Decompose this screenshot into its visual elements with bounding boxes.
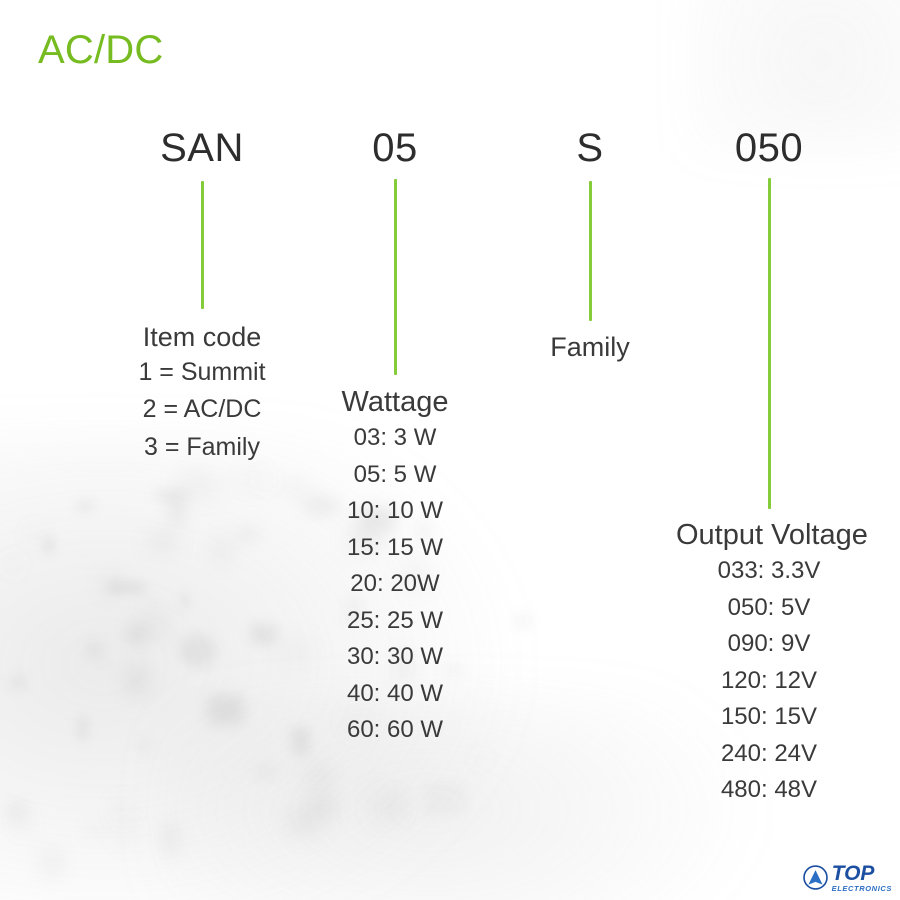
watermark-blob [309, 799, 339, 814]
caption-list-item-code: 1 = Summit 2 = AC/DC 3 = Family [92, 354, 312, 467]
list-item: 033: 3.3V [676, 553, 862, 589]
watermark-blob [7, 557, 19, 572]
list-item: 15: 15 W [300, 530, 490, 566]
segment-code-05: 05 [300, 128, 490, 168]
list-item: 050: 5V [676, 590, 862, 626]
watermark-blob [207, 695, 243, 725]
watermark-blob [368, 793, 405, 824]
caption-heading-wattage: Wattage [300, 385, 490, 420]
page-title: AC/DC [38, 28, 163, 72]
list-item: 1 = Summit [92, 354, 312, 392]
watermark-blob [216, 536, 230, 564]
list-item: 20: 20W [300, 566, 490, 602]
watermark-blob [170, 498, 184, 525]
list-item: 2 = AC/DC [92, 391, 312, 429]
watermark-blob [148, 534, 178, 549]
list-item: 25: 25 W [300, 603, 490, 639]
watermark-blob [31, 530, 40, 542]
watermark-blob [317, 771, 332, 788]
watermark-blob [120, 818, 133, 848]
watermark-blob [388, 791, 406, 820]
watermark-blob [126, 666, 149, 696]
logo-wordmark: TOP ELECTRONICS [832, 864, 892, 892]
watermark-blob [153, 491, 188, 500]
watermark-blob [425, 783, 466, 814]
watermark-blob [7, 799, 25, 822]
watermark-blob [250, 624, 277, 646]
watermark-blob [77, 715, 88, 742]
watermark-blob [138, 600, 165, 609]
leader-line-wattage [394, 179, 397, 375]
caption-list-output-voltage: 033: 3.3V 050: 5V 090: 9V 120: 12V 150: … [676, 553, 862, 808]
leader-line-family [589, 181, 592, 321]
leader-line-output-voltage [768, 178, 771, 509]
watermark-blob [108, 582, 147, 592]
watermark-blob [236, 470, 263, 489]
watermark-blob [43, 849, 59, 876]
watermark-blob [517, 615, 529, 627]
list-item: 60: 60 W [300, 712, 490, 748]
list-item: 05: 5 W [300, 457, 490, 493]
segment-code-050: 050 [676, 128, 862, 168]
list-item: 3 = Family [92, 429, 312, 467]
segment-code-s: S [500, 128, 680, 168]
watermark-blob [11, 676, 25, 688]
watermark-blob [112, 800, 133, 820]
list-item: 40: 40 W [300, 676, 490, 712]
caption-heading-output-voltage: Output Voltage [676, 518, 862, 553]
logo-tagline-text: ELECTRONICS [832, 885, 892, 893]
watermark-blob [290, 810, 320, 831]
watermark-blob [102, 573, 120, 595]
list-item: 240: 24V [676, 736, 862, 772]
caption-family: Family [500, 331, 680, 364]
watermark-blob [181, 592, 189, 609]
caption-output-voltage: Output Voltage 033: 3.3V 050: 5V 090: 9V… [676, 518, 862, 809]
caption-heading-family: Family [500, 331, 680, 364]
watermark-blob [16, 810, 31, 836]
slide-canvas: AC/DC SAN Item code 1 = Summit 2 = AC/DC… [0, 0, 900, 900]
watermark-blob [88, 643, 101, 657]
watermark-blob [179, 634, 218, 667]
watermark-blob [474, 754, 487, 763]
watermark-blob [254, 766, 277, 777]
watermark-blob [75, 500, 96, 512]
caption-item-code: Item code 1 = Summit 2 = AC/DC 3 = Famil… [92, 321, 312, 466]
watermark-blob [139, 740, 149, 752]
watermark-blob [162, 823, 179, 856]
watermark-blob [177, 476, 218, 494]
caption-list-wattage: 03: 3 W 05: 5 W 10: 10 W 15: 15 W 20: 20… [300, 420, 490, 748]
watermark-blob [127, 627, 146, 643]
caption-wattage: Wattage 03: 3 W 05: 5 W 10: 10 W 15: 15 … [300, 385, 490, 749]
brand-logo[interactable]: TOP ELECTRONICS [802, 864, 892, 892]
leader-line-item-code [201, 181, 204, 309]
list-item: 120: 12V [676, 663, 862, 699]
part-segment-output-voltage: 050 Output Voltage 033: 3.3V 050: 5V 090… [676, 128, 862, 809]
list-item: 090: 9V [676, 626, 862, 662]
list-item: 480: 48V [676, 772, 862, 808]
watermark-blob [44, 536, 54, 554]
caption-heading-item-code: Item code [92, 321, 312, 354]
part-segment-wattage: 05 Wattage 03: 3 W 05: 5 W 10: 10 W 15: … [300, 128, 490, 749]
part-segment-family: S Family [500, 128, 680, 364]
segment-code-san: SAN [92, 128, 312, 168]
list-item: 10: 10 W [300, 493, 490, 529]
logo-brand-text: TOP [832, 864, 875, 884]
watermark-blob [85, 827, 106, 835]
top-electronics-mark-icon [802, 864, 829, 891]
list-item: 150: 15V [676, 699, 862, 735]
watermark-blob [363, 786, 387, 797]
watermark-blob [309, 764, 322, 788]
list-item: 30: 30 W [300, 639, 490, 675]
watermark-blob [131, 615, 169, 638]
watermark-blob [237, 526, 260, 542]
part-segment-item-code: SAN Item code 1 = Summit 2 = AC/DC 3 = F… [92, 128, 312, 466]
watermark-blob [258, 472, 274, 488]
list-item: 03: 3 W [300, 420, 490, 456]
